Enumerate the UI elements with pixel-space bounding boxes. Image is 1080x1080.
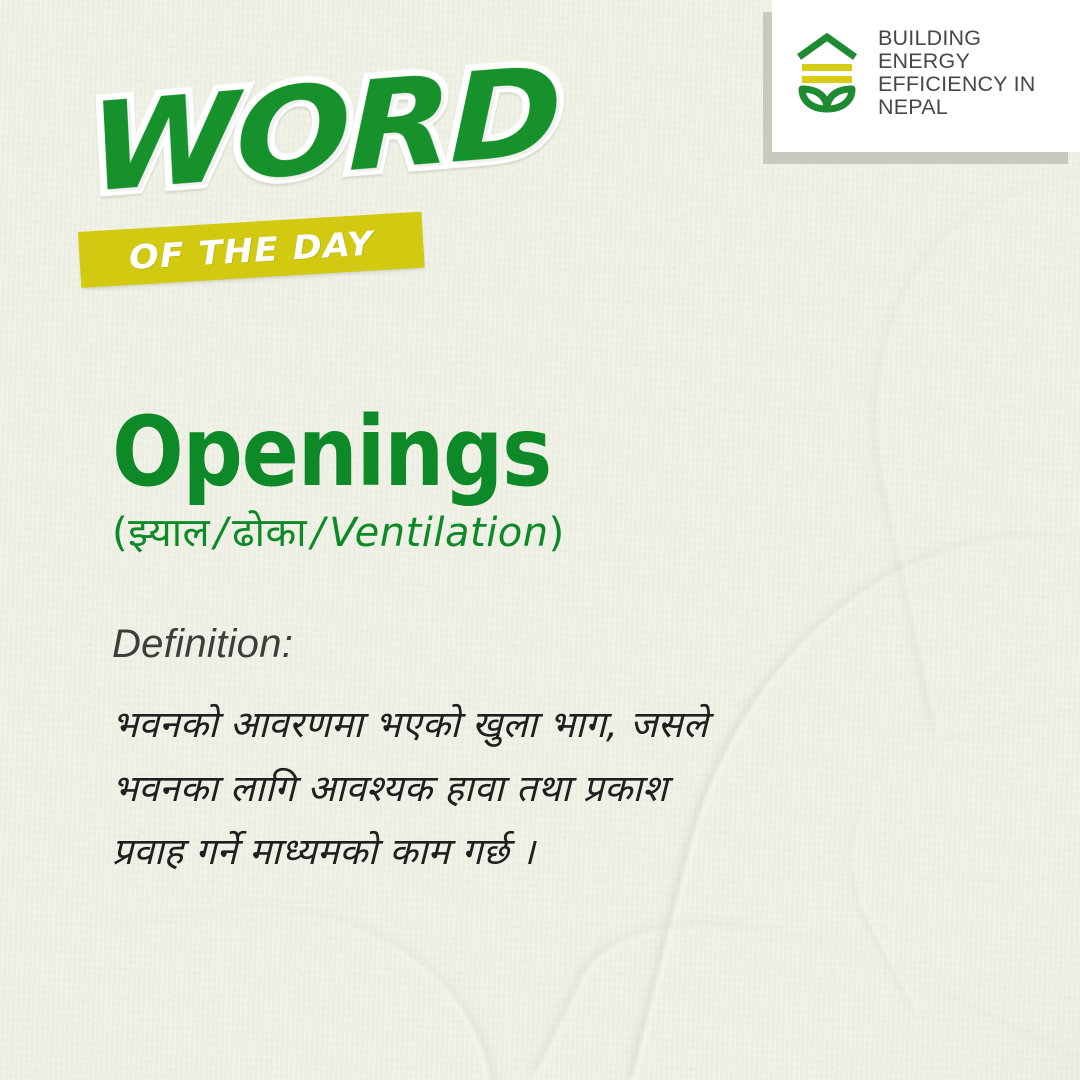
definition-line: भवनको आवरणमा भएको खुला भाग, जसले xyxy=(112,693,892,757)
word-of-the-day-poster: BUILDING ENERGY EFFICIENCY IN NEPAL WORD… xyxy=(0,0,1080,1080)
definition-label: Definition: xyxy=(112,622,972,667)
translation-separator: / xyxy=(307,510,329,556)
word-of-the-day-badge: WORD OF THE DAY xyxy=(72,84,492,314)
of-the-day-label: OF THE DAY xyxy=(68,211,435,289)
term-title: Openings xyxy=(112,404,869,500)
translation-english-ventilation: Ventilation xyxy=(329,510,549,556)
building-energy-efficiency-nepal-logo-icon xyxy=(794,31,860,115)
logo-wordmark: BUILDING ENERGY EFFICIENCY IN NEPAL xyxy=(878,27,1036,120)
word-sticker: WORD xyxy=(84,58,513,207)
definition-line: भवनका लागि आवश्यक हावा तथा प्रकाश xyxy=(112,757,892,821)
paren-close: ) xyxy=(549,510,565,556)
definition-body: भवनको आवरणमा भएको खुला भाग, जसले भवनका ल… xyxy=(112,693,892,884)
logo-card: BUILDING ENERGY EFFICIENCY IN NEPAL xyxy=(772,0,1080,152)
of-the-day-band: OF THE DAY xyxy=(78,212,425,288)
definition-line: प्रवाह गर्ने माध्यमको काम गर्छ । xyxy=(112,820,892,884)
entry-content: Openings (झ्याल/ढोका/Ventilation) Defini… xyxy=(112,404,972,884)
term-translations: (झ्याल/ढोका/Ventilation) xyxy=(112,508,972,558)
paren-open: ( xyxy=(112,510,128,556)
translation-separator: / xyxy=(210,510,232,556)
translation-nepali-door: ढोका xyxy=(232,510,307,556)
word-sticker-label: WORD xyxy=(89,54,560,208)
translation-nepali-window: झ्याल xyxy=(128,510,210,556)
